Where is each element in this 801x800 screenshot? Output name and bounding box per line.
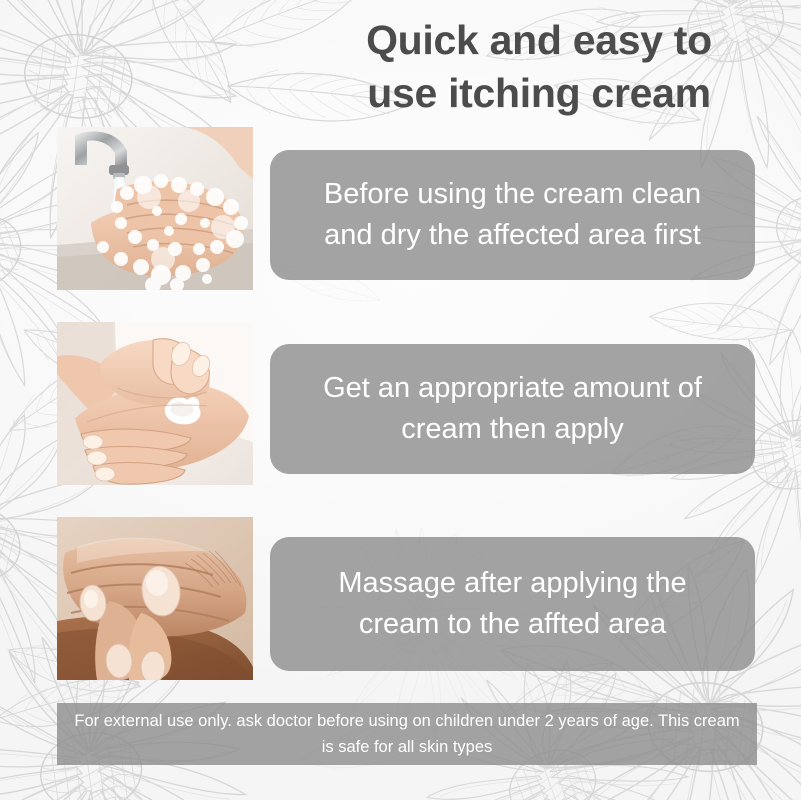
page-title-line-2: use itching cream [300, 67, 778, 120]
step-3-text-box: Massage after applying the cream to the … [270, 537, 755, 671]
step-2-text-box: Get an appropriate amount of cream then … [270, 344, 755, 474]
disclaimer-text: For external use only. ask doctor before… [71, 708, 743, 760]
massaging-illustration [57, 517, 253, 680]
step-1-photo-handwashing [57, 127, 253, 290]
step-1-text: Before using the cream clean and dry the… [296, 174, 729, 256]
page-title: Quick and easy to use itching cream [300, 14, 778, 120]
step-3-photo-massaging [57, 517, 253, 680]
disclaimer-bar: For external use only. ask doctor before… [57, 703, 757, 765]
step-2-text: Get an appropriate amount of cream then … [296, 368, 729, 450]
step-1-text-box: Before using the cream clean and dry the… [270, 150, 755, 280]
applying-cream-illustration [57, 322, 253, 485]
page-title-line-1: Quick and easy to [300, 14, 778, 67]
step-2-photo-applying-cream [57, 322, 253, 485]
step-3-text: Massage after applying the cream to the … [296, 563, 729, 645]
handwashing-illustration [57, 127, 253, 290]
infographic-poster: Quick and easy to use itching cream [0, 0, 801, 800]
